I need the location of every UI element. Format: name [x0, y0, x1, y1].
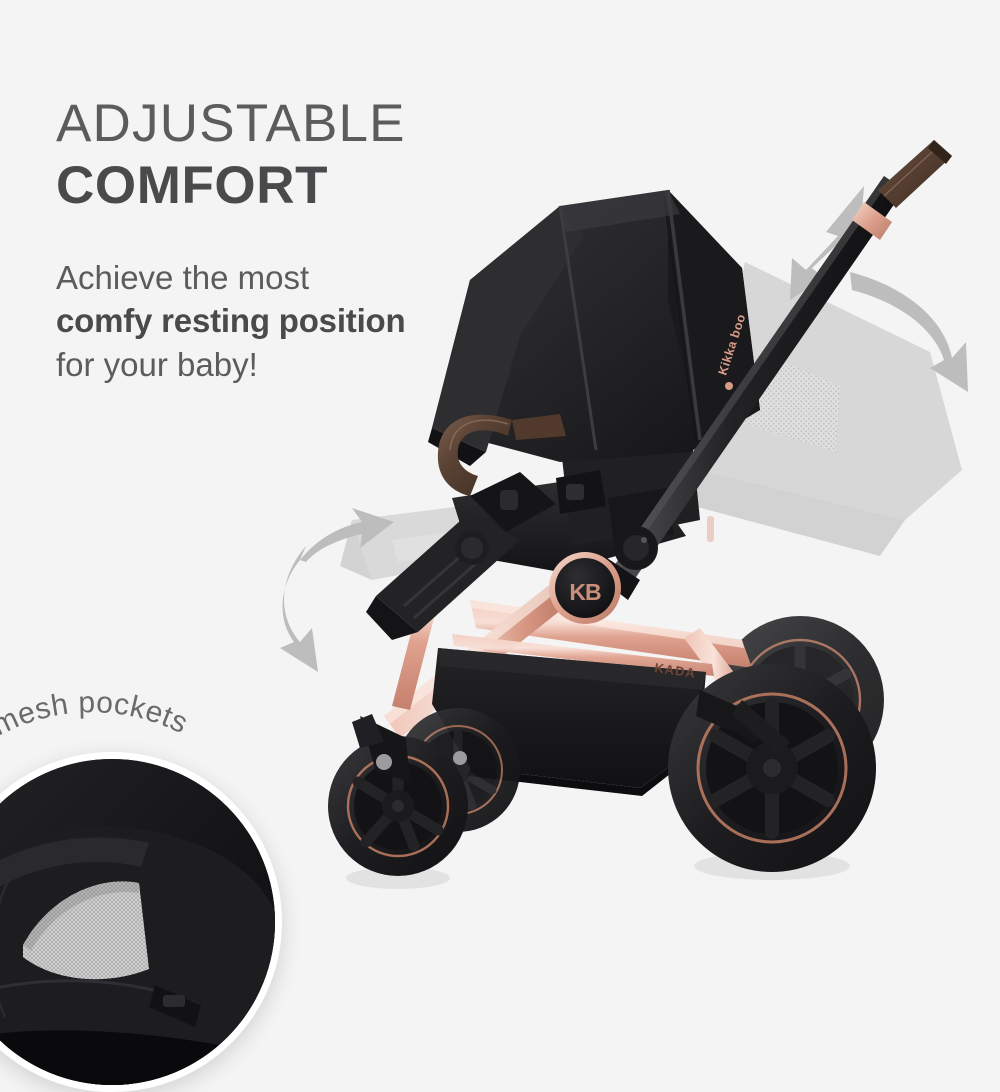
mesh-pocket-closeup — [0, 752, 282, 1092]
product-feature-banner: ADJUSTABLE COMFORT Achieve the most comf… — [0, 0, 1000, 1000]
rear-joint-disc — [614, 526, 658, 570]
hub-medallion: KB — [549, 552, 621, 624]
svg-text:KB: KB — [569, 579, 601, 605]
detail-inset: Breathable mesh pockets — [0, 752, 282, 1092]
arrow-seat-recline-icon — [280, 508, 394, 672]
